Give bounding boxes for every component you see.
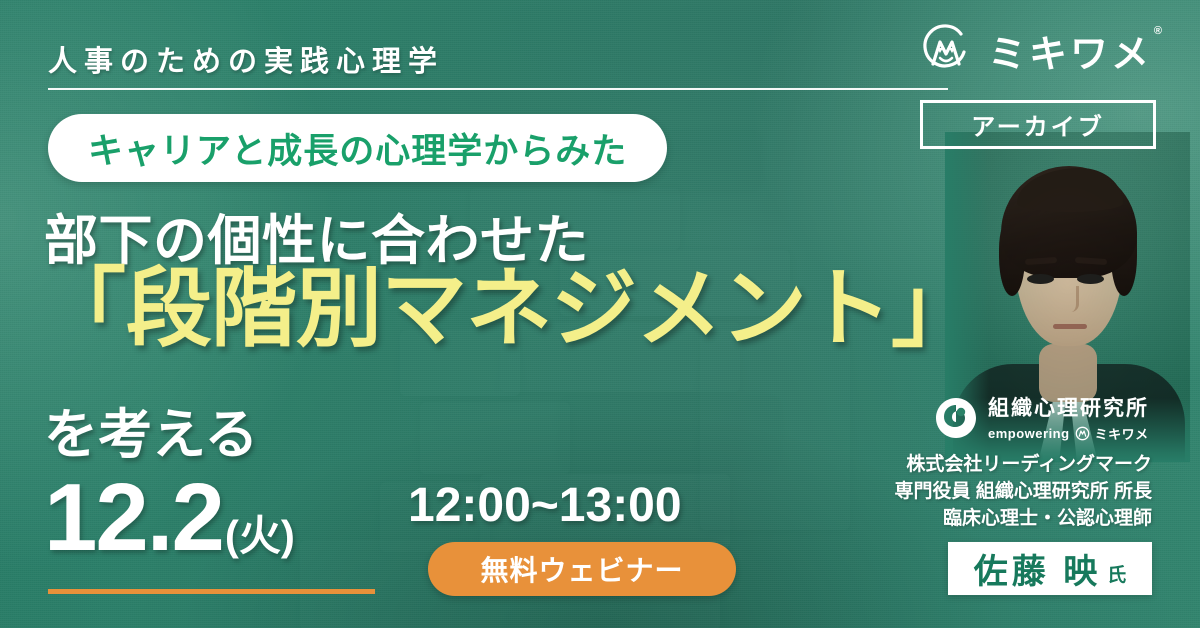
trademark-symbol: ® (1154, 25, 1165, 37)
speaker-affiliation: 株式会社リーディングマーク 専門役員 組織心理研究所 所長 臨床心理士・公認心理… (894, 452, 1152, 533)
soshiki-shinri-kenkyujo-logo-icon (934, 396, 978, 440)
brand-logo: ミキワメ ® (918, 22, 1152, 78)
lab-tagline-brand: ミキワメ (1095, 424, 1149, 443)
brand-name: ミキワメ ® (988, 23, 1152, 78)
event-date-number: 12.2 (44, 470, 223, 566)
divider-rule (48, 88, 948, 90)
date-underline (48, 589, 375, 594)
title-keyword-line: 「 段階別マネジメント 」 (40, 266, 977, 352)
event-date-dayofweek: (火) (225, 515, 295, 557)
speaker-nameplate: 佐藤 映 氏 (948, 542, 1152, 595)
affiliation-line-1: 株式会社リーディングマーク (894, 452, 1152, 479)
speaker-name: 佐藤 映 (974, 544, 1101, 593)
archive-badge-label: アーカイブ (971, 107, 1105, 142)
affiliation-line-3: 臨床心理士・公認心理師 (894, 506, 1152, 533)
brand-name-text: ミキワメ (988, 34, 1152, 76)
mikiwame-circle-logo-icon (918, 22, 974, 78)
tagline: 人事のための実践心理学 (48, 38, 444, 80)
event-date: 12.2 (火) (44, 470, 295, 566)
archive-badge: アーカイブ (920, 100, 1156, 149)
price-badge: 無料ウェビナー (428, 542, 736, 596)
subtitle-pill-label: キャリアと成長の心理学からみた (88, 123, 627, 174)
webinar-banner: 人事のための実践心理学 キャリアと成長の心理学からみた 部下の個性に合わせた 「… (0, 0, 1200, 628)
subtitle-pill: キャリアと成長の心理学からみた (48, 114, 667, 182)
title-line-3: を考える (44, 390, 258, 469)
bracket-open: 「 (40, 266, 126, 352)
mikiwame-mini-logo-icon (1075, 426, 1090, 441)
lab-logo: 組織心理研究所 empowering ミキワメ (934, 392, 1149, 443)
affiliation-line-2: 専門役員 組織心理研究所 所長 (894, 479, 1152, 506)
title-keyword: 段階別マネジメント (126, 266, 891, 352)
lab-name: 組織心理研究所 (988, 392, 1149, 422)
event-time: 12:00~13:00 (408, 478, 682, 533)
lab-tagline-text: empowering (988, 426, 1070, 441)
bracket-close: 」 (891, 266, 977, 352)
speaker-name-suffix: 氏 (1107, 560, 1126, 587)
price-badge-label: 無料ウェビナー (480, 549, 683, 589)
lab-tagline: empowering ミキワメ (988, 424, 1149, 443)
